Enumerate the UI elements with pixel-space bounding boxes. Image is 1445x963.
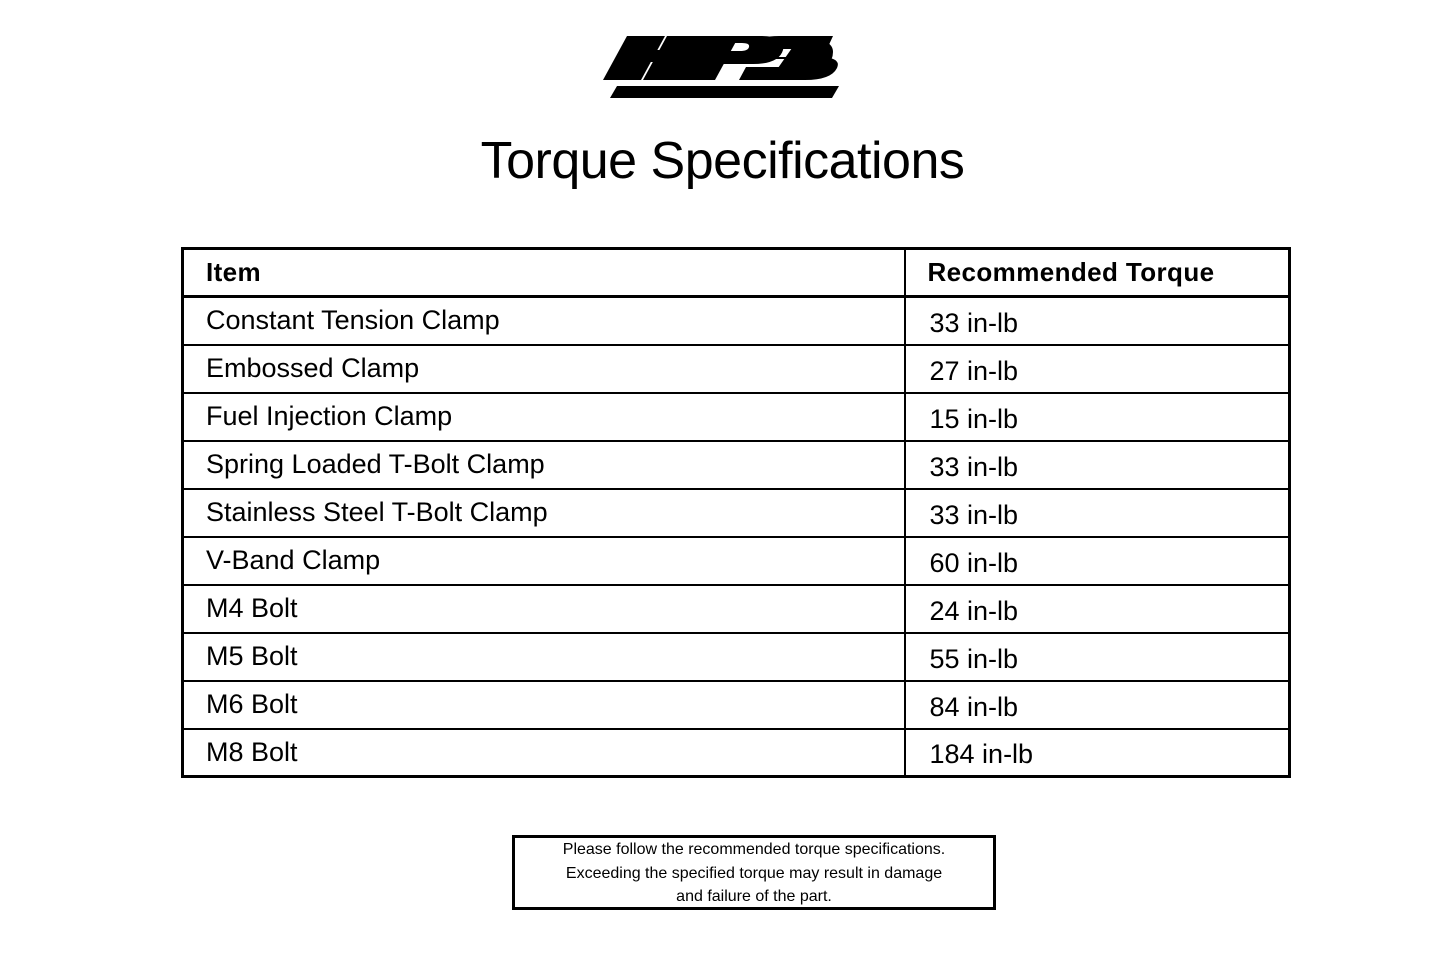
cell-torque: 24 in-lb: [905, 585, 1290, 633]
brand-logo-container: [0, 30, 1445, 102]
cell-item-text: M4 Bolt: [184, 593, 904, 624]
table-row: Spring Loaded T-Bolt Clamp 33 in-lb: [183, 441, 1290, 489]
cell-item-text: Stainless Steel T-Bolt Clamp: [184, 497, 904, 528]
table-row: M6 Bolt 84 in-lb: [183, 681, 1290, 729]
table-header-row: Item Recommended Torque: [183, 249, 1290, 297]
table-row: M4 Bolt 24 in-lb: [183, 585, 1290, 633]
cell-torque-text: 33 in-lb: [906, 495, 1289, 531]
cell-torque-text: 27 in-lb: [906, 351, 1289, 387]
cell-torque: 184 in-lb: [905, 729, 1290, 777]
cell-torque-text: 33 in-lb: [906, 303, 1289, 339]
warning-note-box: Please follow the recommended torque spe…: [512, 835, 996, 910]
torque-specifications-table: Item Recommended Torque Constant Tension…: [181, 247, 1291, 778]
column-header-recommended-torque: Recommended Torque: [905, 249, 1290, 297]
table-header: Item Recommended Torque: [183, 249, 1290, 297]
warning-note-line: Exceeding the specified torque may resul…: [566, 862, 942, 886]
table-row: V-Band Clamp 60 in-lb: [183, 537, 1290, 585]
cell-torque: 84 in-lb: [905, 681, 1290, 729]
cell-item-text: Embossed Clamp: [184, 353, 904, 384]
cell-torque-text: 55 in-lb: [906, 639, 1289, 675]
torque-specifications-page: { "brand": { "logo_name": "hps-logo", "l…: [0, 0, 1445, 963]
cell-item: M5 Bolt: [183, 633, 905, 681]
cell-torque-text: 184 in-lb: [906, 734, 1289, 770]
cell-item: Embossed Clamp: [183, 345, 905, 393]
table-row: M8 Bolt 184 in-lb: [183, 729, 1290, 777]
table-row: Fuel Injection Clamp 15 in-lb: [183, 393, 1290, 441]
warning-note-line: Please follow the recommended torque spe…: [563, 838, 945, 862]
cell-item: M8 Bolt: [183, 729, 905, 777]
cell-item: M6 Bolt: [183, 681, 905, 729]
cell-torque: 55 in-lb: [905, 633, 1290, 681]
warning-note-line: and failure of the part.: [676, 885, 832, 909]
column-header-recommended-torque-label: Recommended Torque: [906, 257, 1289, 289]
cell-item: M4 Bolt: [183, 585, 905, 633]
cell-torque-text: 60 in-lb: [906, 543, 1289, 579]
cell-torque: 33 in-lb: [905, 297, 1290, 345]
cell-torque-text: 33 in-lb: [906, 447, 1289, 483]
column-header-item: Item: [183, 249, 905, 297]
hps-logo: [603, 30, 843, 102]
cell-item-text: M5 Bolt: [184, 641, 904, 672]
cell-item-text: V-Band Clamp: [184, 545, 904, 576]
cell-torque-text: 24 in-lb: [906, 591, 1289, 627]
cell-torque: 33 in-lb: [905, 441, 1290, 489]
cell-torque-text: 15 in-lb: [906, 399, 1289, 435]
cell-item-text: Fuel Injection Clamp: [184, 401, 904, 432]
cell-item: Fuel Injection Clamp: [183, 393, 905, 441]
cell-item: Spring Loaded T-Bolt Clamp: [183, 441, 905, 489]
table-body: Constant Tension Clamp 33 in-lb Embossed…: [183, 297, 1290, 777]
cell-item: Stainless Steel T-Bolt Clamp: [183, 489, 905, 537]
cell-torque: 33 in-lb: [905, 489, 1290, 537]
cell-item: V-Band Clamp: [183, 537, 905, 585]
table-row: Embossed Clamp 27 in-lb: [183, 345, 1290, 393]
cell-item-text: M6 Bolt: [184, 689, 904, 720]
column-header-item-label: Item: [184, 257, 904, 289]
cell-item-text: Constant Tension Clamp: [184, 305, 904, 336]
page-title: Torque Specifications: [0, 132, 1445, 190]
cell-item-text: Spring Loaded T-Bolt Clamp: [184, 449, 904, 480]
cell-torque: 15 in-lb: [905, 393, 1290, 441]
cell-torque-text: 84 in-lb: [906, 687, 1289, 723]
cell-item: Constant Tension Clamp: [183, 297, 905, 345]
table-row: Stainless Steel T-Bolt Clamp 33 in-lb: [183, 489, 1290, 537]
cell-torque: 27 in-lb: [905, 345, 1290, 393]
table-row: M5 Bolt 55 in-lb: [183, 633, 1290, 681]
table-row: Constant Tension Clamp 33 in-lb: [183, 297, 1290, 345]
cell-item-text: M8 Bolt: [184, 737, 904, 768]
torque-table-container: Item Recommended Torque Constant Tension…: [181, 247, 1288, 778]
cell-torque: 60 in-lb: [905, 537, 1290, 585]
